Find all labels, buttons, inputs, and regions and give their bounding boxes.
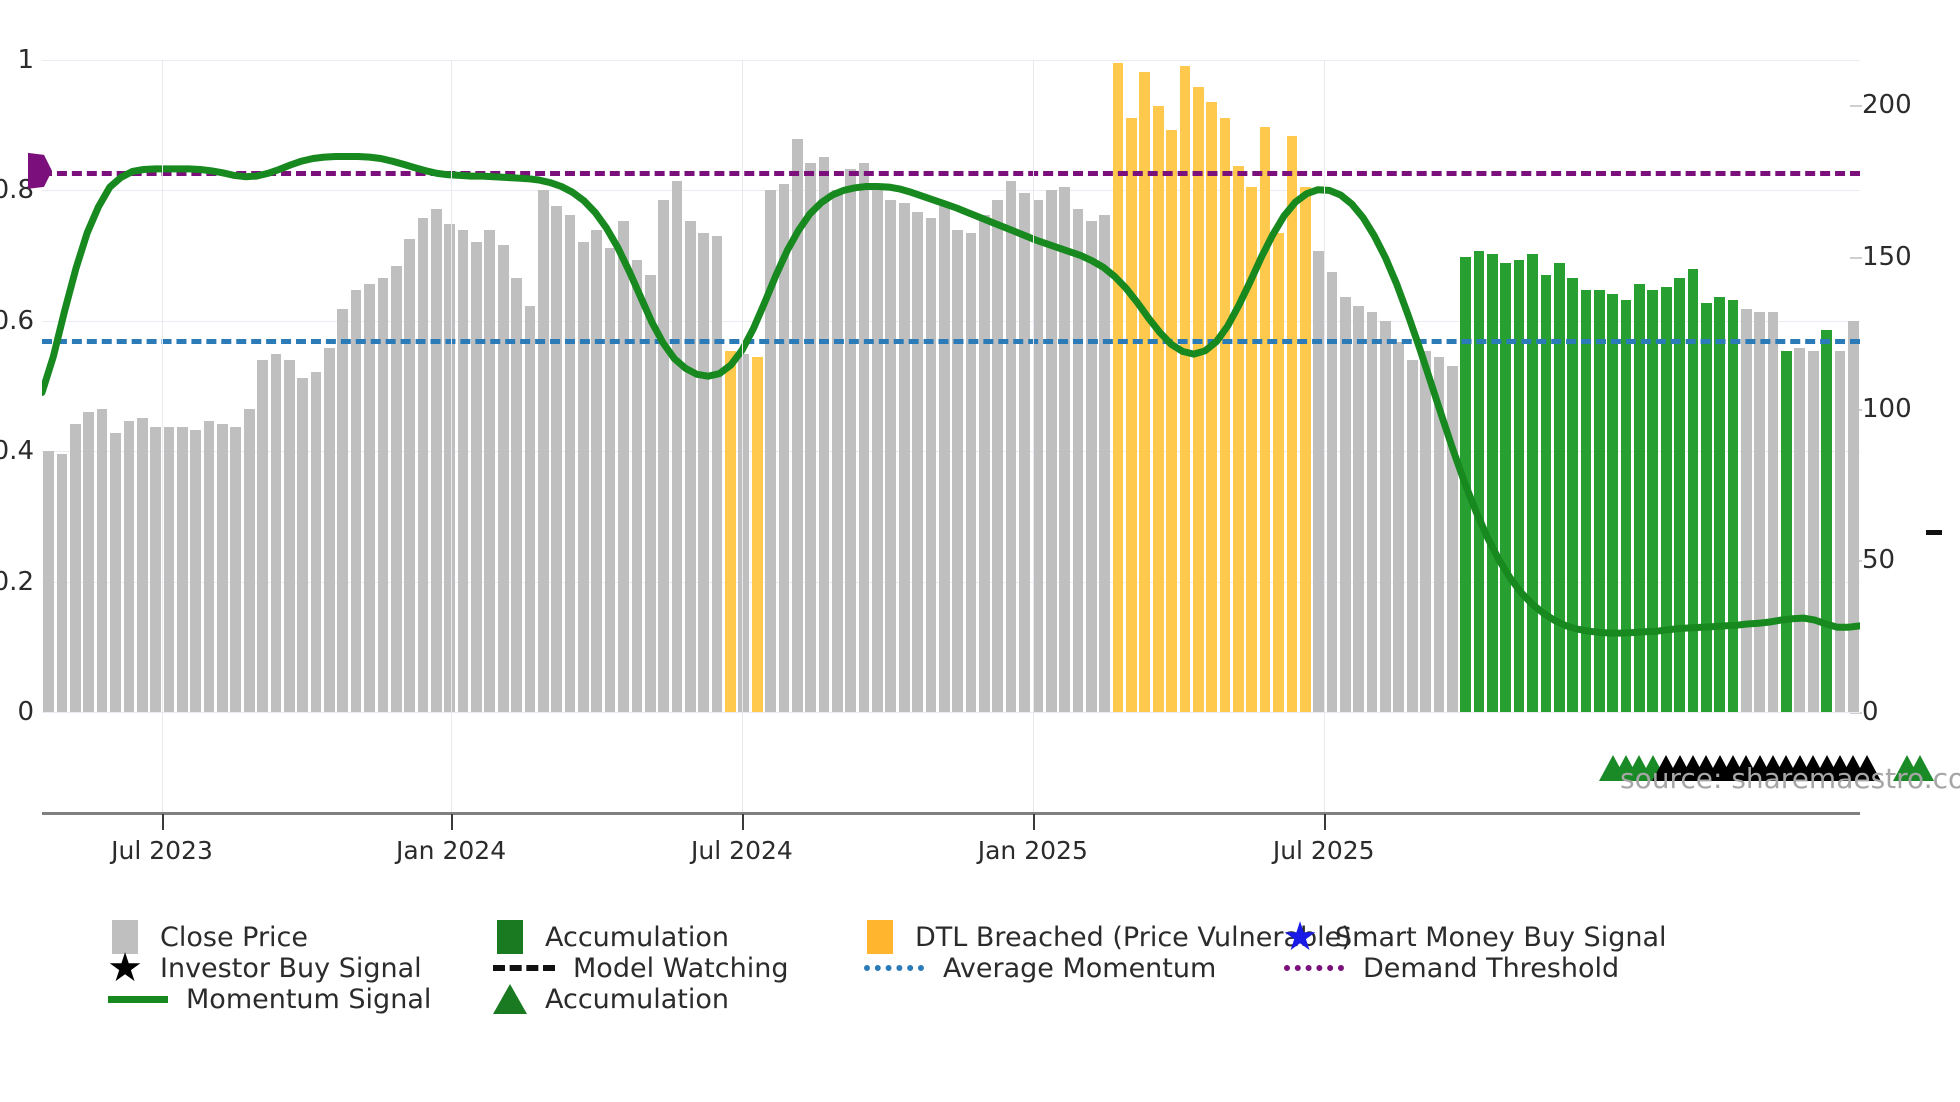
x-axis-tick-mark	[742, 814, 744, 830]
price-bar	[1300, 187, 1311, 712]
price-bar	[1581, 290, 1592, 712]
legend-item-average-momentum[interactable]: Average Momentum	[863, 951, 1216, 985]
price-bar	[110, 433, 121, 712]
price-bar	[752, 357, 763, 712]
line-icon-shape	[864, 965, 924, 971]
price-bar	[1554, 263, 1565, 712]
price-bar	[926, 218, 937, 712]
price-bar	[1460, 257, 1471, 712]
price-bar	[137, 418, 148, 712]
chart-canvas: 00.20.40.60.81 050100150200 Jul 2023Jan …	[0, 0, 1960, 1102]
price-bar	[1741, 309, 1752, 712]
dashed-line-icon	[493, 951, 555, 985]
demand-threshold-line	[42, 171, 1860, 176]
right-axis-tick-label: 0	[1862, 697, 1879, 727]
price-bar	[418, 218, 429, 712]
price-bar	[1033, 200, 1044, 713]
price-bar	[1514, 260, 1525, 712]
price-bar	[1220, 118, 1231, 712]
price-bar	[578, 242, 589, 712]
price-bar	[177, 427, 188, 712]
price-bar	[605, 248, 616, 712]
legend-item-dtl-breached[interactable]: DTL Breached (Price Vulnerable)	[863, 920, 1352, 954]
legend-label: Demand Threshold	[1363, 953, 1619, 984]
star-icon: ★	[108, 951, 142, 985]
price-bar	[1808, 351, 1819, 712]
price-bar	[845, 169, 856, 712]
price-bar	[1166, 130, 1177, 712]
dotted-line-icon	[1283, 951, 1345, 985]
price-bar	[939, 206, 950, 712]
price-bar	[83, 412, 94, 712]
price-bar	[1527, 254, 1538, 712]
price-bar	[1193, 87, 1204, 712]
price-bar	[1647, 290, 1658, 712]
legend-item-momentum-signal[interactable]: Momentum Signal	[108, 982, 431, 1016]
price-bar	[1206, 102, 1217, 712]
price-bar	[1420, 351, 1431, 712]
price-bar	[391, 266, 402, 712]
legend-label: Model Watching	[573, 953, 788, 984]
price-bar	[471, 242, 482, 712]
triangle-icon-shape	[493, 984, 527, 1014]
price-bar	[1848, 321, 1859, 712]
price-bar	[1714, 297, 1725, 712]
price-bar	[1180, 66, 1191, 712]
price-bar	[1487, 254, 1498, 712]
price-bar	[1287, 136, 1298, 712]
source-attribution: source: sharemaestro.com	[1620, 762, 1960, 795]
price-bar	[992, 200, 1003, 713]
price-bar	[1634, 284, 1645, 712]
price-bar	[1393, 342, 1404, 712]
accumulation-bar-swatch-icon	[493, 920, 527, 954]
price-bar	[311, 372, 322, 712]
price-bar	[1835, 351, 1846, 712]
vertical-gridline	[451, 60, 452, 814]
vertical-gridline	[1324, 60, 1325, 814]
price-bar	[1019, 193, 1030, 712]
price-bar	[591, 230, 602, 712]
price-bar	[404, 239, 415, 712]
right-axis-tick-label: 150	[1862, 242, 1912, 272]
price-bar	[1447, 366, 1458, 712]
x-axis-tick-label: Jul 2023	[111, 836, 213, 865]
color-swatch-icon	[867, 920, 893, 954]
price-bar	[525, 306, 536, 712]
price-bar	[672, 181, 683, 712]
price-bar	[1099, 215, 1110, 712]
right-axis-tick-label: 200	[1862, 90, 1912, 120]
price-bar	[658, 200, 669, 713]
price-bar	[912, 212, 923, 712]
x-axis-tick-mark	[162, 814, 164, 830]
price-bar	[1086, 221, 1097, 712]
price-bar	[271, 354, 282, 712]
price-bar	[952, 230, 963, 712]
price-bar	[1701, 303, 1712, 712]
legend-label: Close Price	[160, 922, 308, 953]
legend-item-accumulation-bar[interactable]: Accumulation	[493, 920, 729, 954]
legend-label: Investor Buy Signal	[160, 953, 422, 984]
legend-label: Smart Money Buy Signal	[1335, 922, 1667, 953]
legend-item-smart-money-buy-signal[interactable]: ★Smart Money Buy Signal	[1283, 920, 1667, 954]
price-bar	[204, 421, 215, 712]
price-bar	[1233, 166, 1244, 712]
x-axis-tick-mark	[1033, 814, 1035, 830]
right-axis-tick-label: 50	[1862, 545, 1895, 575]
legend-row: Momentum SignalAccumulation	[108, 982, 1918, 1022]
price-bar	[899, 203, 910, 712]
price-bar	[1340, 297, 1351, 712]
price-bar	[1728, 300, 1739, 712]
price-bar	[164, 427, 175, 712]
price-bar	[565, 215, 576, 712]
price-bar	[150, 427, 161, 712]
legend-item-investor-buy-signal[interactable]: ★Investor Buy Signal	[108, 951, 422, 985]
price-bar	[70, 424, 81, 712]
price-bar	[124, 421, 135, 712]
star-icon: ★	[1283, 920, 1317, 954]
price-bar	[230, 427, 241, 712]
price-bar	[551, 206, 562, 712]
price-bar	[832, 190, 843, 712]
price-bar	[1607, 294, 1618, 712]
price-bar	[712, 236, 723, 712]
price-bar	[1474, 251, 1485, 712]
price-bar	[1500, 263, 1511, 712]
price-bar	[738, 354, 749, 712]
x-axis-tick-label: Jul 2024	[691, 836, 793, 865]
x-axis-tick-label: Jan 2024	[396, 836, 506, 865]
price-bar	[872, 190, 883, 712]
price-bar	[1246, 187, 1257, 712]
price-bar	[1139, 72, 1150, 712]
dotted-line-icon	[863, 951, 925, 985]
price-bar	[1754, 312, 1765, 712]
price-bar	[538, 190, 549, 712]
price-bar	[1059, 187, 1070, 712]
legend-item-model-watching[interactable]: Model Watching	[493, 951, 788, 985]
price-bar	[1367, 312, 1378, 712]
price-bar	[431, 209, 442, 712]
price-bar	[257, 360, 268, 712]
price-bar	[1781, 351, 1792, 712]
x-axis-tick-label: Jul 2025	[1273, 836, 1375, 865]
line-icon-shape	[493, 965, 555, 971]
x-axis-spine	[42, 812, 1860, 815]
price-bar	[190, 430, 201, 712]
legend-item-accumulation-triangle[interactable]: Accumulation	[493, 982, 729, 1016]
triangle-icon	[493, 982, 527, 1016]
plot-area	[42, 60, 1860, 712]
line-icon-shape	[1284, 965, 1344, 971]
x-axis-tick-label: Jan 2025	[978, 836, 1088, 865]
price-bar	[725, 351, 736, 712]
price-bar	[498, 245, 509, 712]
price-bar	[632, 260, 643, 712]
dtl-breached-swatch-icon	[863, 920, 897, 954]
price-bar	[324, 348, 335, 712]
price-bar	[244, 409, 255, 712]
price-bar	[859, 163, 870, 712]
price-bar	[1353, 306, 1364, 712]
price-bar	[1273, 233, 1284, 712]
price-bar	[1407, 360, 1418, 712]
model-watching-marker	[1926, 530, 1942, 535]
right-axis-tick-label: 100	[1862, 394, 1912, 424]
horizontal-gridline	[42, 712, 1860, 713]
price-bar	[698, 233, 709, 712]
price-bar	[337, 309, 348, 712]
x-axis-tick-mark	[451, 814, 453, 830]
legend-label: Accumulation	[545, 922, 729, 953]
price-bar	[97, 409, 108, 712]
price-bar	[458, 230, 469, 712]
price-bar	[1821, 330, 1832, 712]
price-bar	[1046, 190, 1057, 712]
average-momentum-line	[42, 339, 1860, 344]
price-bar	[1073, 209, 1084, 712]
price-bar	[618, 221, 629, 712]
price-bar	[444, 224, 455, 712]
price-bar	[819, 157, 830, 712]
price-bar	[1380, 321, 1391, 712]
price-bar	[885, 200, 896, 713]
vertical-gridline	[1033, 60, 1034, 814]
legend-label: Accumulation	[545, 984, 729, 1015]
price-bar	[1153, 106, 1164, 713]
x-axis-tick-mark	[1324, 814, 1326, 830]
demand-threshold-start-marker	[26, 60, 66, 712]
price-bar	[765, 190, 776, 712]
legend-item-demand-threshold[interactable]: Demand Threshold	[1283, 951, 1619, 985]
price-bar	[1768, 312, 1779, 712]
price-bar	[284, 360, 295, 712]
solid-line-icon	[108, 982, 168, 1016]
price-bar	[1621, 300, 1632, 712]
price-bar	[685, 221, 696, 712]
legend-label: Average Momentum	[943, 953, 1216, 984]
price-bar	[805, 163, 816, 712]
price-bar	[1594, 290, 1605, 712]
price-bar	[351, 290, 362, 712]
price-bar	[1113, 63, 1124, 712]
price-bar	[217, 424, 228, 712]
price-bar	[792, 139, 803, 712]
price-bar	[1006, 181, 1017, 712]
price-bar	[1313, 251, 1324, 712]
price-bar	[364, 284, 375, 712]
price-bar	[979, 215, 990, 712]
vertical-gridline	[162, 60, 163, 814]
price-bar	[1661, 287, 1672, 712]
price-bar	[966, 233, 977, 712]
price-bar	[1126, 118, 1137, 712]
line-icon-shape	[108, 996, 168, 1003]
price-bar	[484, 230, 495, 712]
price-bar	[1434, 357, 1445, 712]
signal-markers-row	[42, 745, 1860, 781]
price-bar	[1260, 127, 1271, 712]
color-swatch-icon	[497, 920, 523, 954]
price-bar	[1688, 269, 1699, 712]
chart-legend: Close PriceAccumulationDTL Breached (Pri…	[108, 920, 1918, 1080]
legend-label: Momentum Signal	[186, 984, 431, 1015]
vertical-gridline	[742, 60, 743, 814]
price-bar	[297, 378, 308, 712]
price-bar	[1794, 348, 1805, 712]
price-bar	[779, 184, 790, 712]
